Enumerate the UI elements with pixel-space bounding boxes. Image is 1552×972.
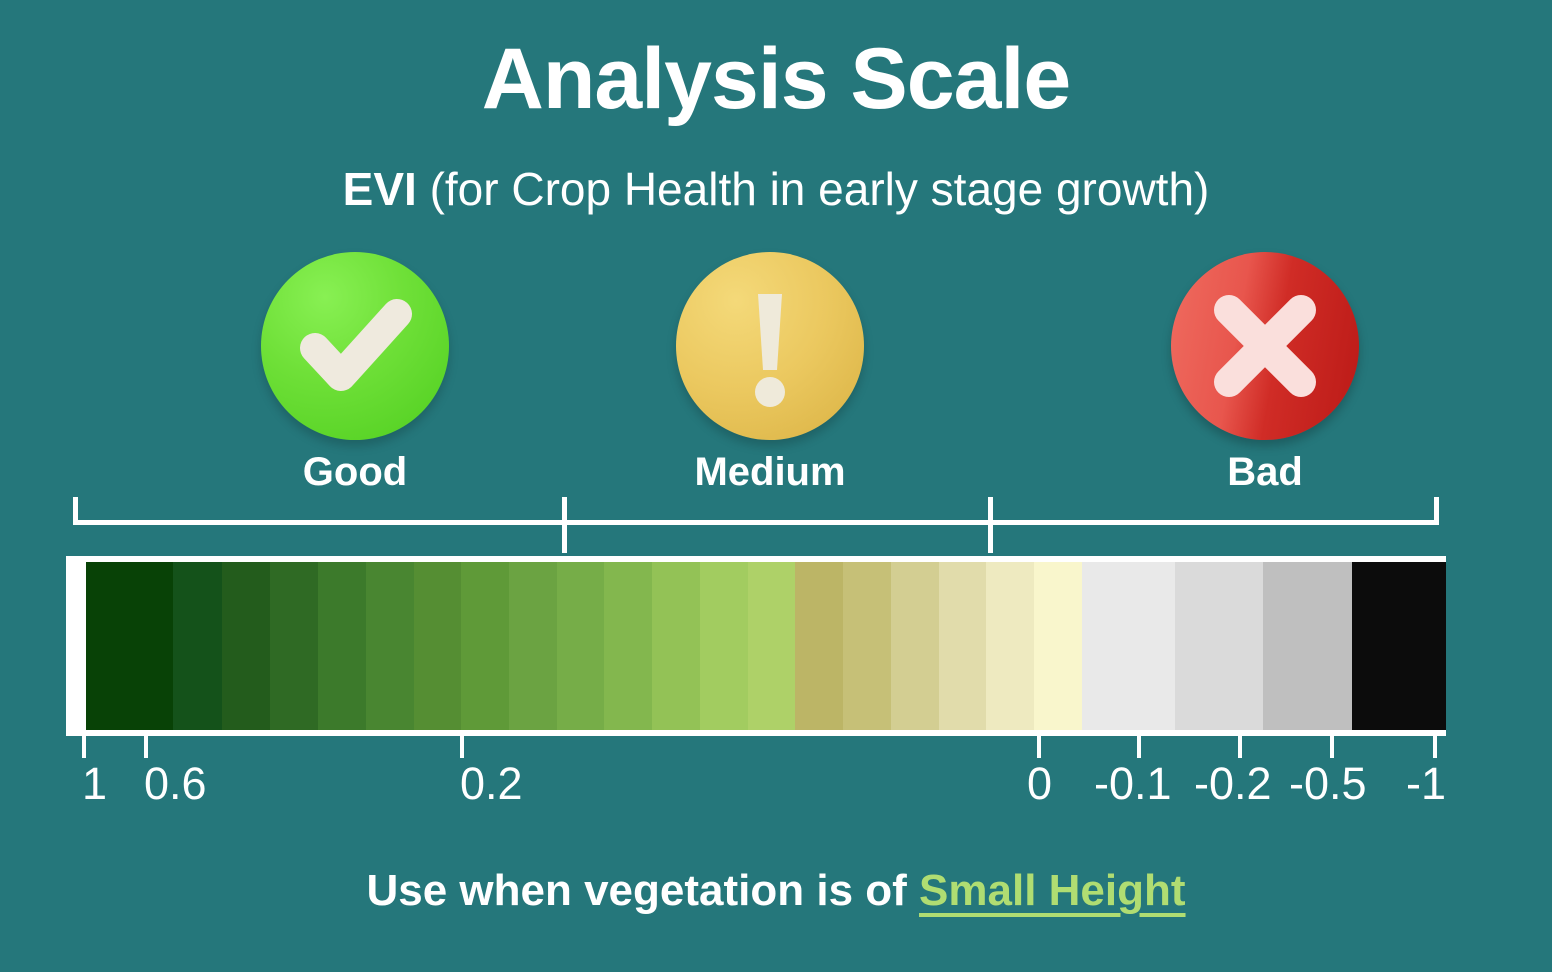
bracket-tick-start: [73, 497, 78, 525]
colorbar-band-22: [1263, 562, 1352, 730]
axis-tick--0.1: [1137, 736, 1141, 758]
colorbar-band-16: [891, 562, 939, 730]
colorbar-band-6: [414, 562, 462, 730]
axis-tick-0: [1037, 736, 1041, 758]
axis-label-1: 1: [82, 758, 107, 810]
colorbar-band-9: [557, 562, 605, 730]
axis-tick--1: [1433, 736, 1437, 758]
range-bracket: [73, 500, 1439, 544]
bracket-baseline: [73, 520, 1439, 525]
colorbar-frame: [66, 556, 1446, 736]
axis-tick-1: [82, 736, 86, 758]
analysis-scale-infographic: Analysis Scale EVI (for Crop Health in e…: [0, 0, 1552, 972]
bracket-tick-good-medium: [562, 497, 567, 553]
colorbar: [86, 562, 1446, 730]
colorbar-band-0: [86, 562, 173, 730]
axis-label--0.1: -0.1: [1094, 758, 1172, 810]
footer-highlight: Small Height: [919, 866, 1186, 915]
colorbar-band-8: [509, 562, 557, 730]
index-abbreviation: EVI: [343, 163, 417, 215]
colorbar-band-20: [1082, 562, 1176, 730]
colorbar-band-17: [939, 562, 987, 730]
colorbar-band-14: [795, 562, 843, 730]
check-circle-icon: [261, 252, 449, 440]
axis-label-0.6: 0.6: [144, 758, 207, 810]
category-medium: Medium: [620, 252, 920, 494]
axis-label--1: -1: [1406, 758, 1446, 810]
exclamation-circle-icon: [676, 252, 864, 440]
colorbar-band-21: [1175, 562, 1263, 730]
footer-note: Use when vegetation is of Small Height: [0, 866, 1552, 917]
axis-label-0: 0: [1027, 758, 1052, 810]
axis-tick-0.6: [144, 736, 148, 758]
bracket-tick-end: [1434, 497, 1439, 525]
axis-tick--0.2: [1238, 736, 1242, 758]
index-description: (for Crop Health in early stage growth): [417, 163, 1210, 215]
colorbar-band-5: [366, 562, 414, 730]
colorbar-axis: 10.60.20-0.1-0.2-0.5-1: [0, 736, 1552, 826]
axis-label-0.2: 0.2: [460, 758, 523, 810]
colorbar-band-19: [1034, 562, 1082, 730]
category-label-medium: Medium: [620, 450, 920, 494]
footer-text: Use when vegetation is of: [366, 866, 919, 915]
category-bad: Bad: [1115, 252, 1415, 494]
colorbar-band-12: [700, 562, 748, 730]
page-title: Analysis Scale: [0, 34, 1552, 124]
colorbar-band-10: [604, 562, 652, 730]
category-good: Good: [205, 252, 505, 494]
axis-label--0.5: -0.5: [1289, 758, 1367, 810]
colorbar-band-1: [173, 562, 222, 730]
colorbar-band-23: [1352, 562, 1446, 730]
cross-circle-icon: [1171, 252, 1359, 440]
colorbar-band-18: [986, 562, 1034, 730]
colorbar-band-4: [318, 562, 366, 730]
colorbar-band-13: [748, 562, 796, 730]
category-label-good: Good: [205, 450, 505, 494]
axis-tick-0.2: [460, 736, 464, 758]
colorbar-band-3: [270, 562, 318, 730]
category-label-bad: Bad: [1115, 450, 1415, 494]
bracket-tick-medium-bad: [988, 497, 993, 553]
colorbar-band-7: [461, 562, 509, 730]
axis-tick--0.5: [1330, 736, 1334, 758]
colorbar-band-2: [222, 562, 271, 730]
axis-label--0.2: -0.2: [1194, 758, 1272, 810]
colorbar-band-11: [652, 562, 700, 730]
page-subtitle: EVI (for Crop Health in early stage grow…: [0, 164, 1552, 215]
colorbar-band-15: [843, 562, 891, 730]
